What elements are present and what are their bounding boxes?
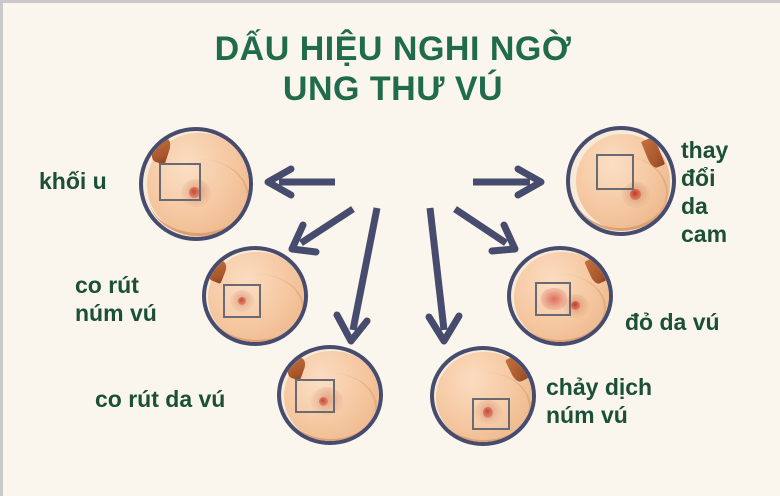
label-text: thay đổi da cam	[681, 137, 728, 247]
sign-label-co-rut-num-vu: co rút núm vú	[75, 271, 205, 327]
sign-circle-khoi-u[interactable]	[139, 127, 253, 241]
label-text: co rút da vú	[95, 386, 225, 412]
title-line-2: UNG THƯ VÚ	[3, 69, 780, 109]
sign-circle-co-rut-num-vu[interactable]	[202, 246, 308, 346]
arrow-right	[473, 169, 541, 195]
sign-circle-co-rut-da-vu[interactable]	[277, 345, 383, 445]
arrow-down-right	[455, 209, 515, 251]
sign-circle-chay-dich-num-vu[interactable]	[430, 346, 536, 446]
sign-label-do-da-vu: đỏ da vú	[625, 308, 775, 336]
sign-label-thay-doi-da-cam: thay đổi da cam	[681, 136, 779, 248]
label-text: chảy dịch núm vú	[546, 374, 652, 428]
arrow-down-slight-right	[429, 208, 459, 341]
highlight-box	[535, 282, 571, 316]
sign-label-co-rut-da-vu: co rút da vú	[95, 385, 275, 413]
highlight-box	[596, 154, 634, 190]
arrow-left	[268, 169, 335, 195]
nipple-marker	[571, 301, 580, 310]
page-title: DẤU HIỆU NGHI NGỜ UNG THƯ VÚ	[3, 29, 780, 109]
sign-label-chay-dich-num-vu: chảy dịch núm vú	[546, 373, 726, 429]
arrow-down-left	[292, 209, 353, 252]
nipple-marker	[630, 189, 641, 200]
title-line-1: DẤU HIỆU NGHI NGỜ	[3, 29, 780, 69]
sign-label-khoi-u: khối u	[39, 167, 139, 195]
infographic-poster: DẤU HIỆU NGHI NGỜ UNG THƯ VÚ	[0, 0, 780, 496]
label-text: đỏ da vú	[625, 309, 720, 335]
highlight-box	[295, 379, 335, 413]
sign-circle-do-da-vu[interactable]	[507, 246, 613, 346]
highlight-box	[472, 398, 510, 430]
arrow-down-slight-left	[337, 208, 377, 341]
sign-circle-thay-doi-da-cam[interactable]	[566, 126, 676, 236]
label-text: co rút núm vú	[75, 272, 157, 326]
highlight-box	[223, 284, 261, 318]
highlight-box	[159, 163, 201, 201]
